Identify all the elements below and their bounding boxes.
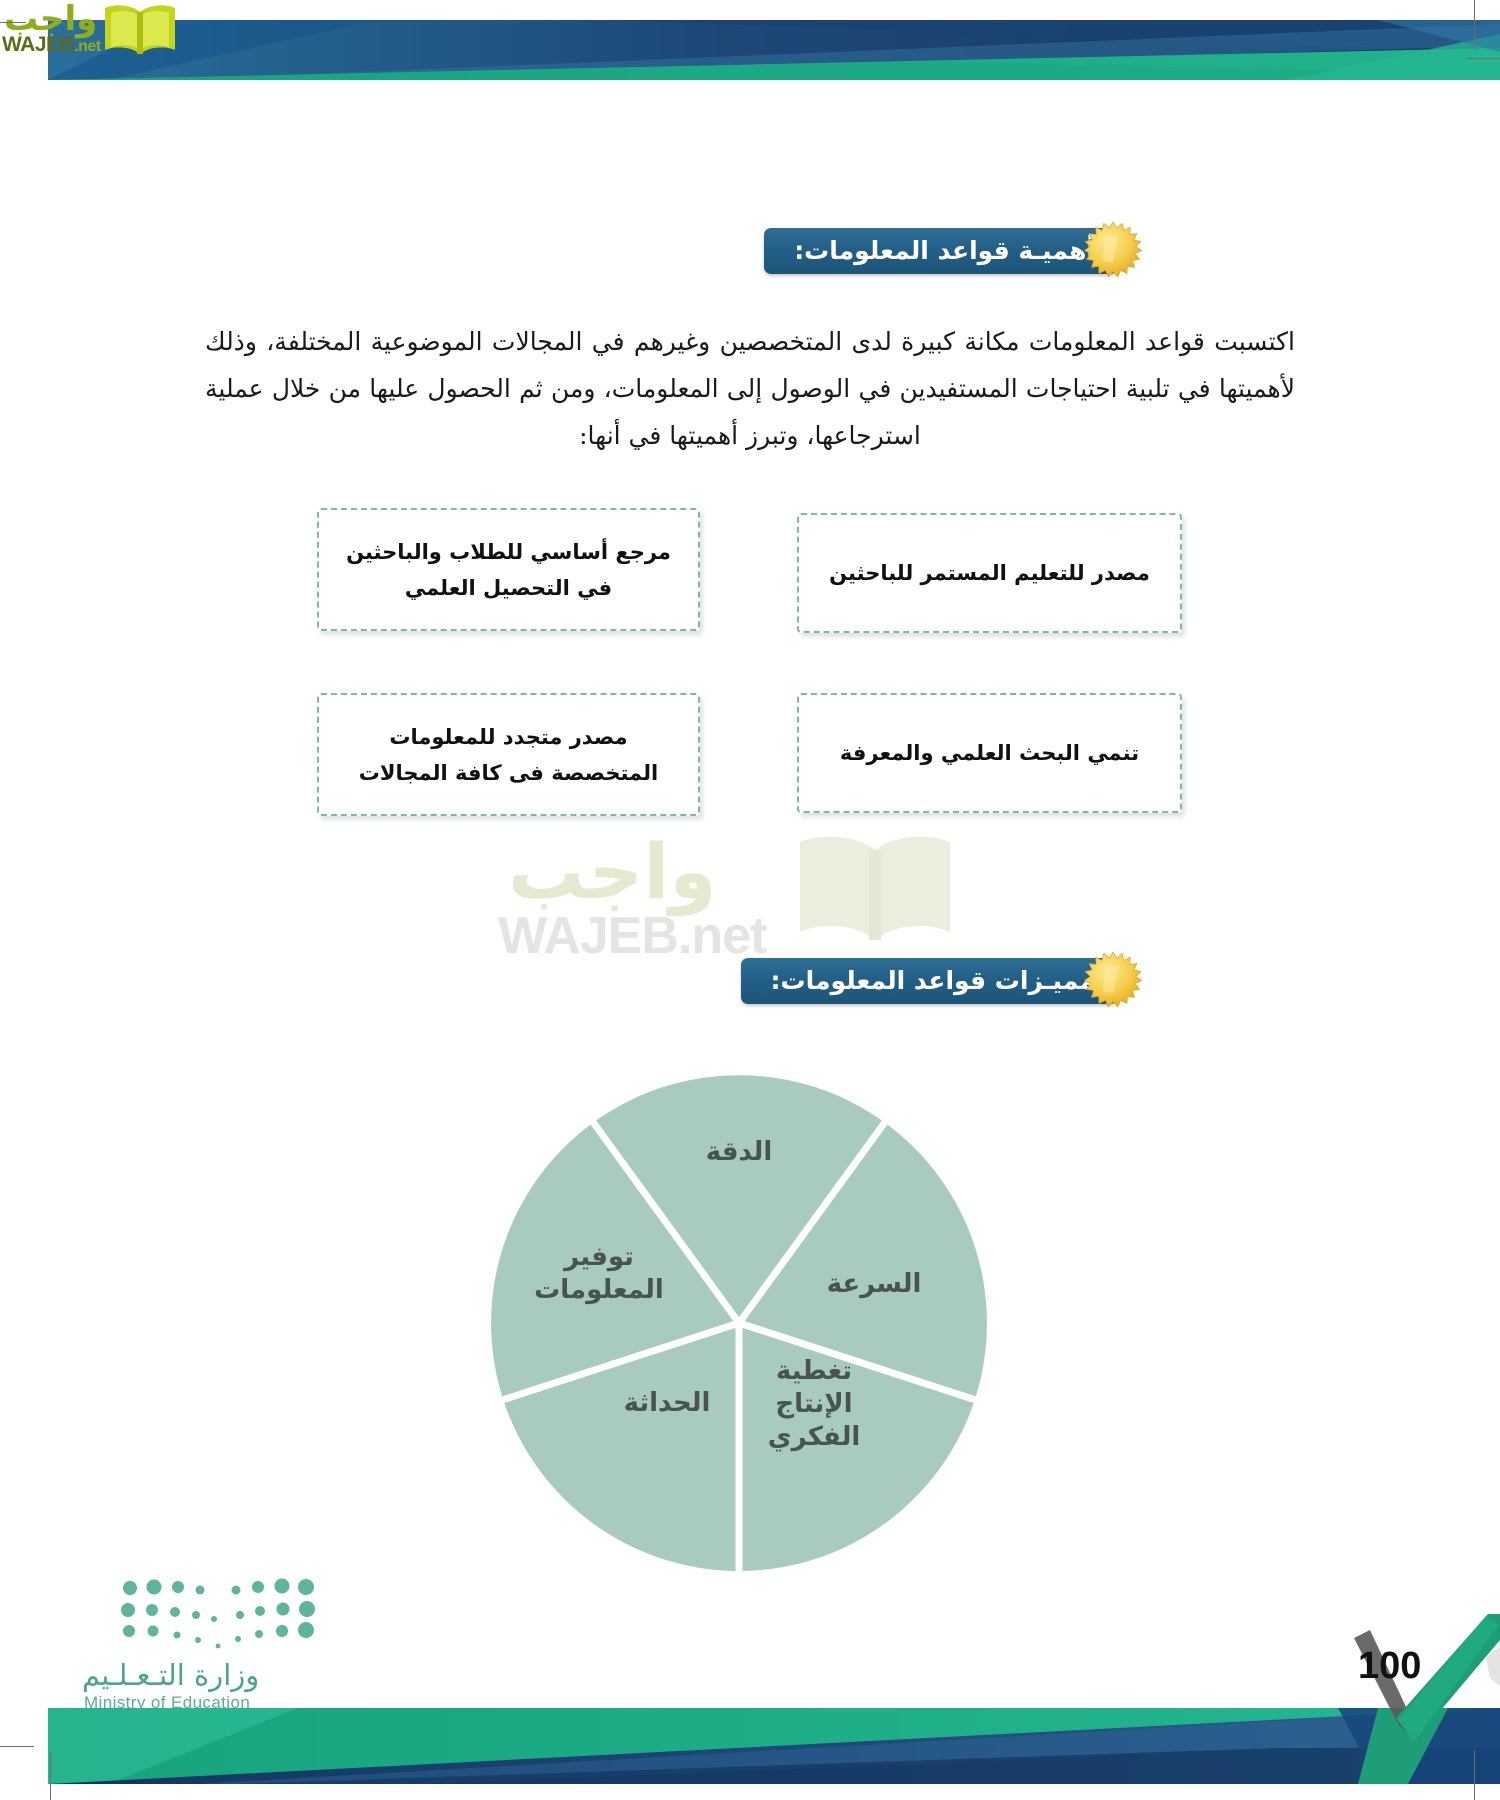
- pie-svg: [489, 1073, 989, 1573]
- moe-dots-icon: [118, 1578, 318, 1656]
- open-book-icon: [100, 2, 180, 62]
- importance-box-text: مصدر متجدد للمعلومات المتخصصة فى كافة ال…: [319, 719, 698, 791]
- importance-box-text: مصدر للتعليم المستمر للباحثين: [815, 555, 1164, 591]
- ministry-name-english: Ministry of Education: [84, 1694, 250, 1712]
- section-banner-importance-label: أهميـة قواعد المعلومات:: [794, 228, 1095, 274]
- page-root: واجب WAJEB.net أهميـة قواعد المعلومات:: [0, 0, 1500, 1800]
- top-decorative-band: [48, 12, 1500, 80]
- page-number: 100: [1358, 1645, 1421, 1688]
- features-pie-chart: الدقة السرعة تغطية الإنتاج الفكري الحداث…: [489, 1073, 989, 1573]
- crop-mark-header-left: [0, 22, 26, 23]
- importance-box-text: مرجع أساسي للطلاب والباحثين في التحصيل ا…: [319, 534, 698, 606]
- watermark-book-icon: [790, 828, 960, 962]
- crop-mark-right: [1466, 58, 1500, 59]
- ministry-name-arabic: وزارة التـعـلـيم: [82, 1660, 259, 1690]
- starburst-icon: [1083, 221, 1143, 281]
- section-banner-features: مميـزات قواعد المعلومات:: [741, 958, 1117, 1004]
- site-logo-arabic: واجب: [4, 2, 97, 36]
- crop-mark-bottom-left: [50, 1752, 51, 1800]
- importance-box: مصدر للتعليم المستمر للباحثين: [797, 513, 1182, 633]
- section-banner-importance: أهميـة قواعد المعلومات:: [764, 228, 1117, 274]
- importance-box-text: تنمي البحث العلمي والمعرفة: [826, 735, 1153, 771]
- crop-mark-left: [0, 1746, 34, 1747]
- intro-paragraph: اكتسبت قواعد المعلومات مكانة كبيرة لدى ا…: [205, 318, 1295, 459]
- site-logo-latin: WAJEB.net: [2, 34, 101, 57]
- watermark-latin: WAJEB.net: [498, 910, 766, 962]
- crop-mark-top: [1474, 0, 1475, 50]
- importance-box: مصدر متجدد للمعلومات المتخصصة فى كافة ال…: [317, 693, 700, 816]
- starburst-icon: [1083, 951, 1143, 1011]
- importance-box: تنمي البحث العلمي والمعرفة: [797, 693, 1182, 813]
- importance-box: مرجع أساسي للطلاب والباحثين في التحصيل ا…: [317, 508, 700, 631]
- site-logo[interactable]: واجب WAJEB.net: [0, 0, 195, 62]
- section-banner-features-label: مميـزات قواعد المعلومات:: [771, 958, 1095, 1004]
- crop-mark-bottom-right: [1474, 1750, 1475, 1800]
- ministry-logo: وزارة التـعـلـيم Ministry of Education: [78, 1578, 318, 1718]
- watermark-arabic: واجب: [508, 834, 717, 910]
